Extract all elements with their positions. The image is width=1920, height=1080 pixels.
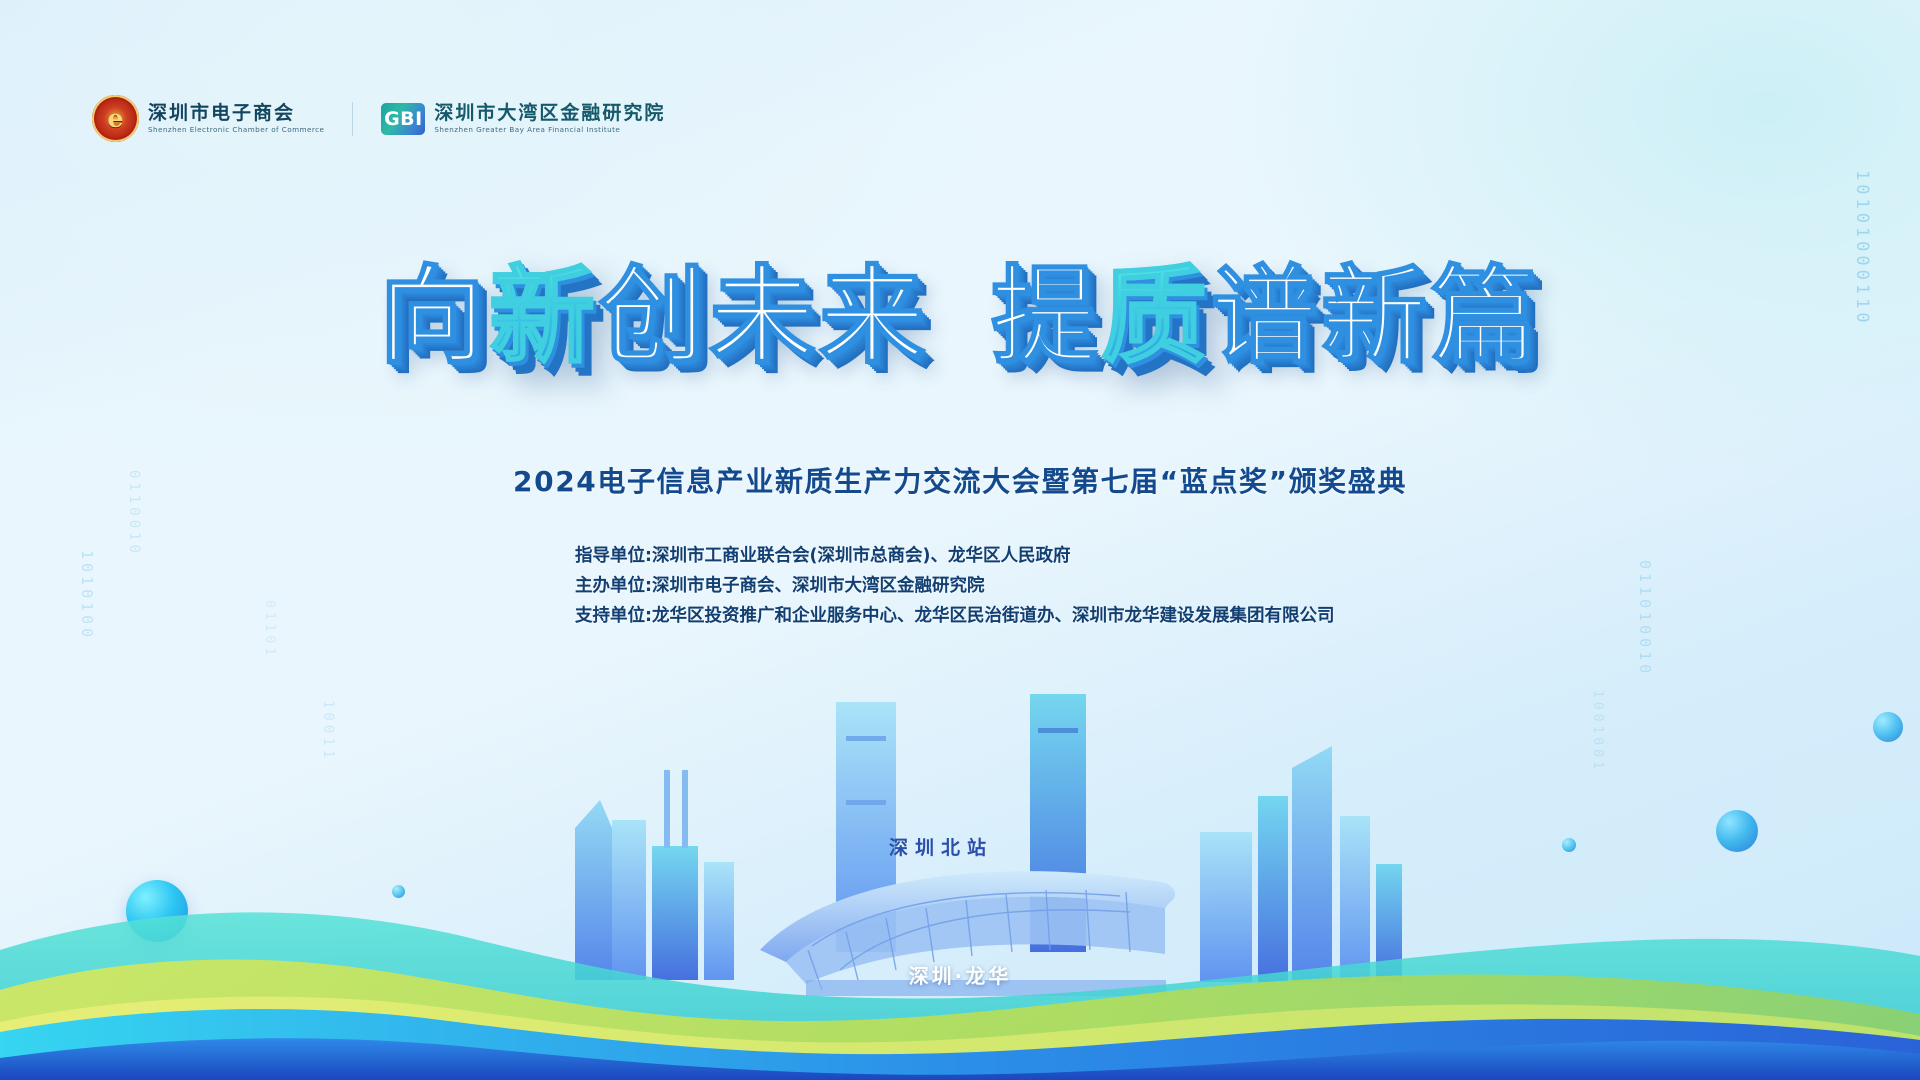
station-label: 深圳北站 [889, 833, 993, 860]
place-label: 深圳·龙华 [0, 960, 1920, 989]
logo-bar: 深圳市电子商会 Shenzhen Electronic Chamber of C… [92, 95, 665, 142]
logo-1-en-name: Shenzhen Electronic Chamber of Commerce [148, 126, 324, 134]
page-title: 向新创未来提质谱新篇 [0, 230, 1920, 384]
event-banner: 10101000110 011010010 1001001 1010100 01… [0, 0, 1920, 1080]
logo-1-cn-name: 深圳市电子商会 [148, 104, 324, 124]
logo-gba-financial-institute: GBI 深圳市大湾区金融研究院 Shenzhen Greater Bay Are… [381, 103, 665, 135]
logo-2-en-name: Shenzhen Greater Bay Area Financial Inst… [434, 126, 665, 134]
headline-part-2: 提质谱新篇 [991, 255, 1541, 378]
headline-p1-char-4: 来 [819, 230, 929, 384]
binary-decor-left-mid: 1010100 [78, 550, 96, 641]
support-units-line: 支持单位:龙华区投资推广和企业服务中心、龙华区民治街道办、深圳市龙华建设发展集团… [575, 601, 1335, 631]
headline-p1-char-1: 新 [489, 230, 599, 384]
logo-divider [352, 102, 353, 136]
headline-p1-char-3: 未 [709, 230, 819, 384]
headline-p2-char-2: 谱 [1211, 230, 1321, 384]
city-skyline-scene [0, 650, 1920, 1080]
gbi-logo-icon: GBI [381, 103, 425, 135]
seal-emblem-icon [92, 95, 139, 142]
headline-p2-char-1: 质 [1101, 230, 1211, 384]
guidance-units-line: 指导单位:深圳市工商业联合会(深圳市总商会)、龙华区人民政府 [575, 541, 1335, 571]
headline-p2-char-4: 篇 [1431, 230, 1541, 384]
headline-p2-char-3: 新 [1321, 230, 1431, 384]
headline-p1-char-0: 向 [379, 230, 489, 384]
headline-p2-char-0: 提 [991, 230, 1101, 384]
event-subtitle: 2024电子信息产业新质生产力交流大会暨第七届“蓝点奖”颁奖盛典 [0, 460, 1920, 500]
logo-shenzhen-electronic-chamber: 深圳市电子商会 Shenzhen Electronic Chamber of C… [92, 95, 324, 142]
host-units-line: 主办单位:深圳市电子商会、深圳市大湾区金融研究院 [575, 571, 1335, 601]
organiser-block: 指导单位:深圳市工商业联合会(深圳市总商会)、龙华区人民政府 主办单位:深圳市电… [575, 541, 1335, 631]
logo-2-cn-name: 深圳市大湾区金融研究院 [434, 104, 665, 124]
headline-p1-char-2: 创 [599, 230, 709, 384]
headline-part-1: 向新创未来 [379, 255, 929, 378]
